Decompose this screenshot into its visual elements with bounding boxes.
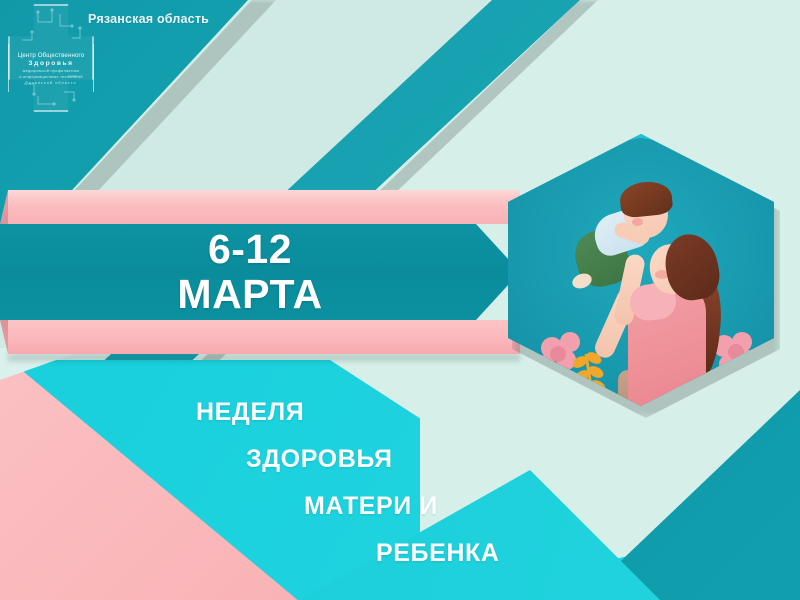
headline-line-4: РЕБЕНКА [376,539,500,568]
child-cheek [632,218,643,226]
logo-line-2: Здоровья [28,60,73,67]
headline-line-1: НЕДЕЛЯ [196,398,304,427]
logo-line-4: и информационных технологий [19,74,83,79]
headline-group: НЕДЕЛЯ ЗДОРОВЬЯ МАТЕРИ И РЕБЕНКА [0,392,800,592]
hexagon-illustration [508,134,780,414]
banner-pink-top-stripe [8,190,520,224]
logo-line-1: Центр Общественного [18,52,85,59]
logo-line-3: медицинской профилактики [23,68,80,73]
organization-logo: Центр Общественного Здоровья медицинской… [8,4,94,112]
poster-canvas: Центр Общественного Здоровья медицинской… [0,0,800,600]
banner-dates: 6-12 [208,228,292,271]
headline-line-2: ЗДОРОВЬЯ [246,445,393,474]
banner-pink-bottom-stripe [8,320,520,354]
logo-line-5: Рязанской области [25,80,76,85]
logo-text-plate: Центр Общественного Здоровья медицинской… [8,44,94,92]
banner-text-group: 6-12 МАРТА [0,224,500,320]
headline-line-3: МАТЕРИ И [304,492,438,521]
banner-shadow [8,354,520,361]
region-label: Рязанская область [88,12,209,26]
banner-month: МАРТА [177,273,322,316]
date-banner: 6-12 МАРТА [0,186,530,358]
